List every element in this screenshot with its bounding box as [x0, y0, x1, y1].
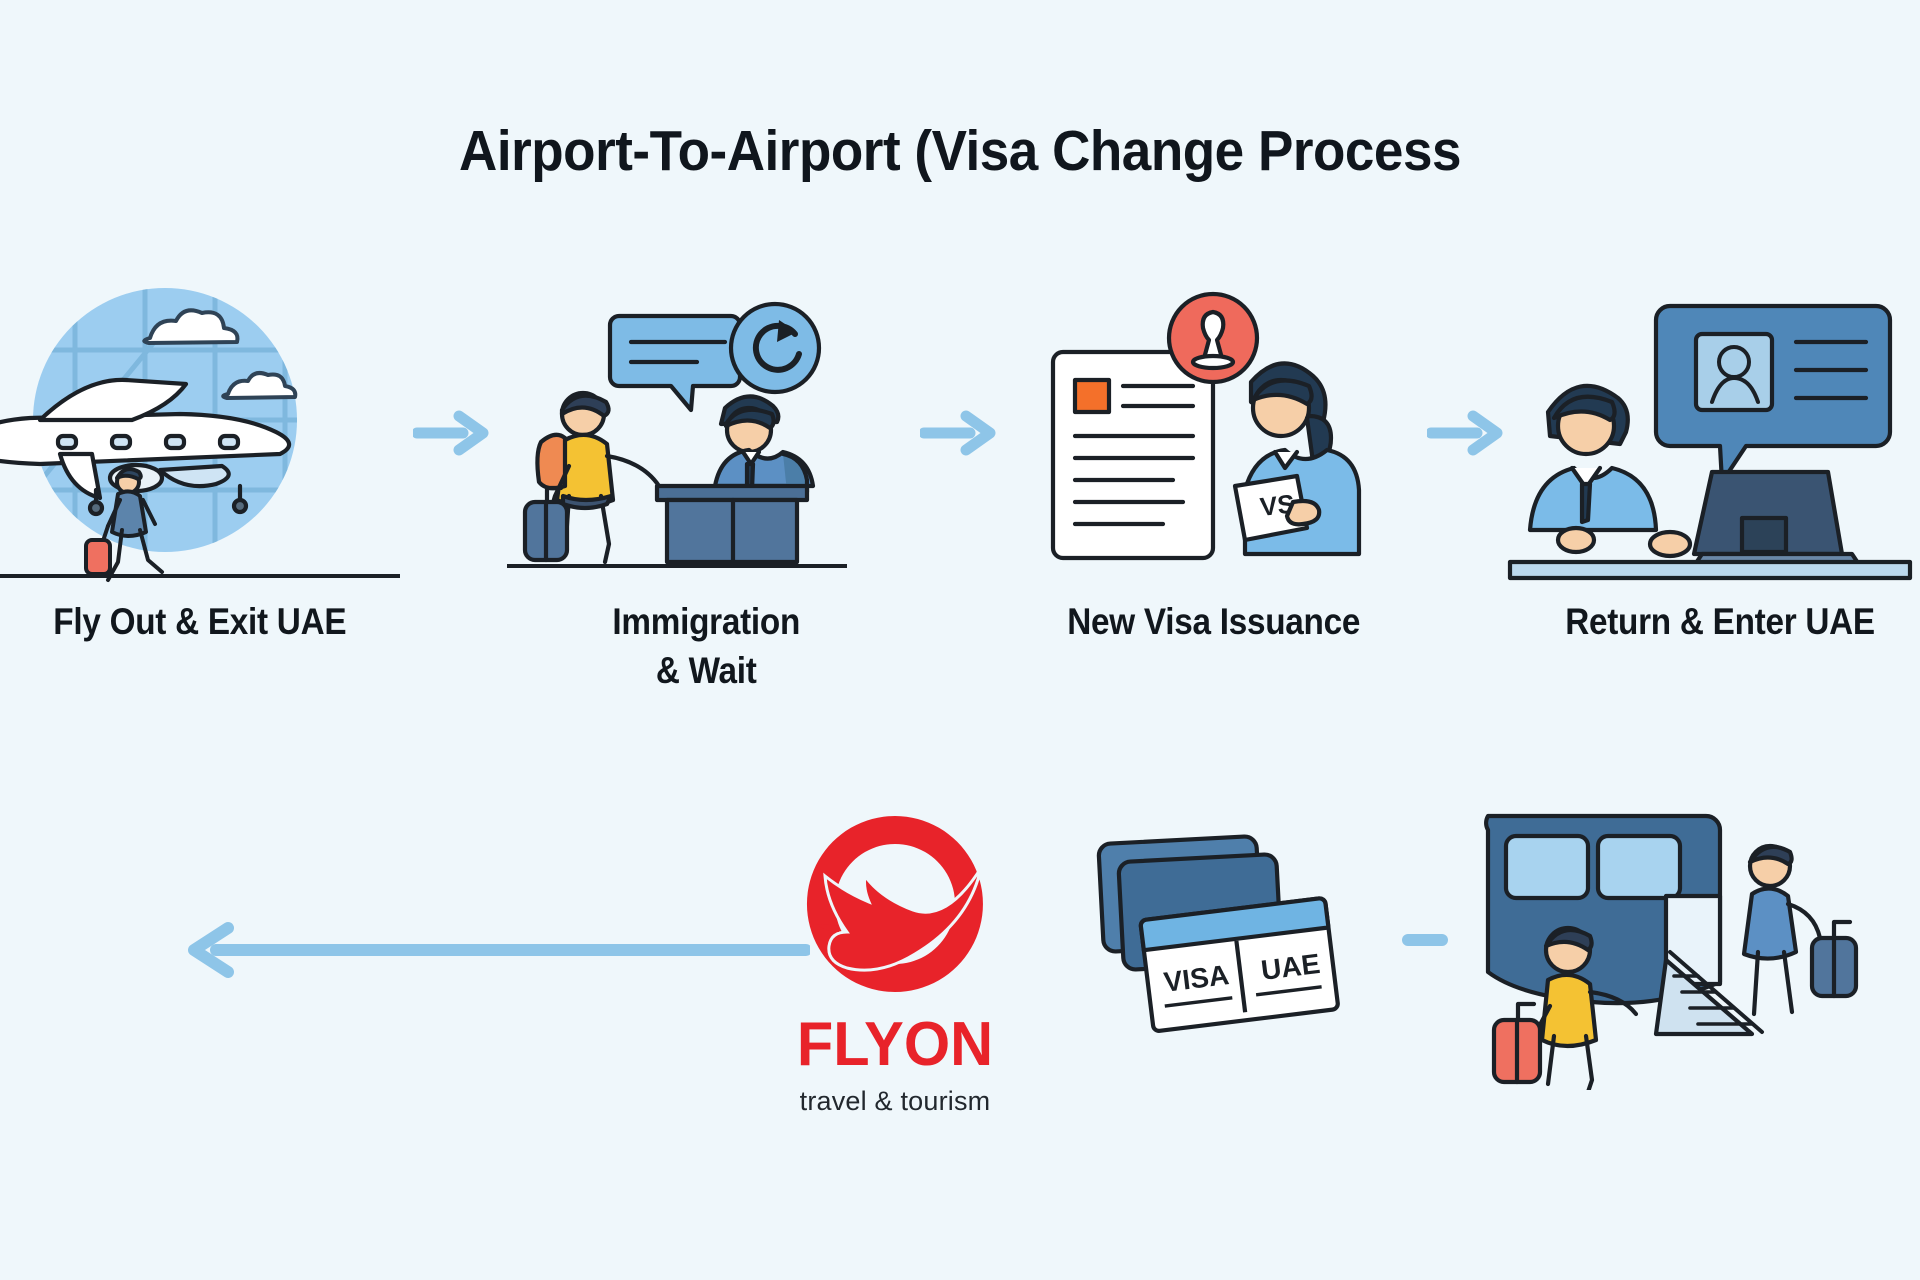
process-steps-row: Fly Out & Exit UAE: [0, 290, 1920, 710]
arrow-right-icon-1: [413, 410, 493, 456]
arrow-right-icon-3: [1427, 410, 1507, 456]
visa-document-icon: VS: [1013, 290, 1413, 580]
page-title: Airport-To-Airport (Visa Change Process: [67, 118, 1853, 184]
step-return-enter-uae: Return & Enter UAE: [1520, 290, 1920, 647]
infographic-canvas: Airport-To-Airport (Visa Change Process: [0, 0, 1920, 1280]
arrow-left-long-icon: [170, 920, 810, 985]
flyon-wordmark: FLYON: [751, 1014, 1039, 1076]
step-label: New Visa Issuance: [1067, 598, 1360, 647]
passport-control-icon: [1520, 290, 1920, 580]
step-label: Fly Out & Exit UAE: [53, 598, 346, 647]
aircraft-boarding-icon: [1470, 800, 1890, 1090]
flyon-bird-icon: [785, 810, 1005, 1010]
step-fly-out: Fly Out & Exit UAE: [0, 290, 400, 647]
step-immigration-wait: Immigration & Wait: [507, 290, 907, 696]
step-label: Immigration & Wait: [613, 598, 801, 696]
flyon-tagline: travel & tourism: [745, 1086, 1045, 1117]
flyon-logo: FLYON travel & tourism: [745, 810, 1045, 1117]
airplane-terminal-icon: [0, 290, 400, 580]
return-flow-row: FLYON travel & tourism VISA UAE: [0, 820, 1920, 1240]
immigration-desk-icon: [507, 290, 907, 580]
step-label: Return & Enter UAE: [1565, 598, 1875, 647]
visa-cards-icon: VISA UAE: [1095, 830, 1375, 1060]
dash-connector-icon: [1400, 930, 1460, 955]
arrow-right-icon-2: [920, 410, 1000, 456]
step-new-visa-issuance: VS New Visa Issuance: [1013, 290, 1413, 647]
